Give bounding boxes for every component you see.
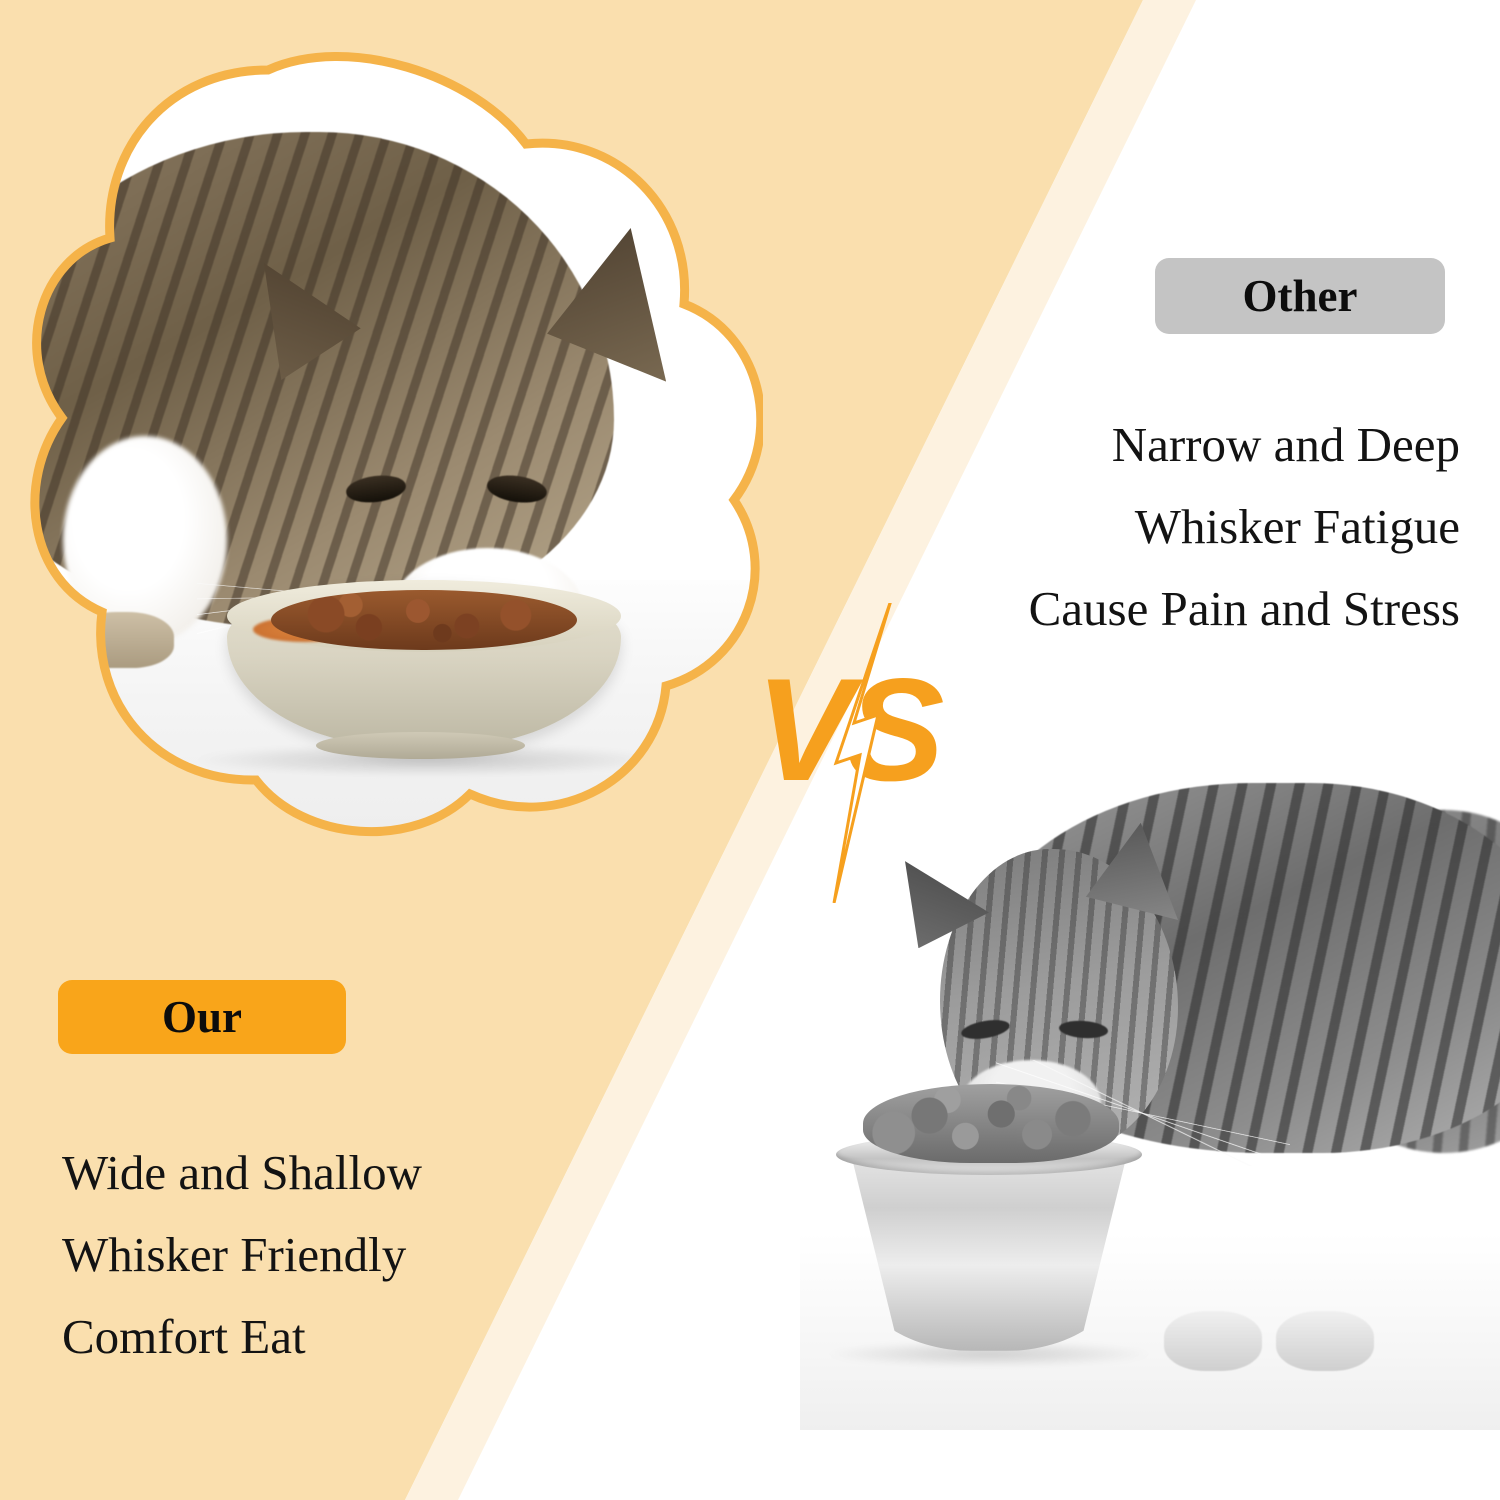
our-badge-label: Our [162, 991, 242, 1043]
other-feature-item: Whisker Fatigue [1029, 486, 1460, 568]
our-badge: Our [58, 980, 346, 1054]
our-feature-list: Wide and Shallow Whisker Friendly Comfor… [62, 1132, 422, 1378]
our-feature-item: Wide and Shallow [62, 1132, 422, 1214]
other-feature-item: Cause Pain and Stress [1029, 568, 1460, 650]
other-badge: Other [1155, 258, 1445, 334]
our-feature-item: Comfort Eat [62, 1296, 422, 1378]
comparison-infographic: Our Wide and Shallow Whisker Friendly Co… [0, 0, 1500, 1500]
other-badge-label: Other [1243, 270, 1358, 322]
other-feature-list: Narrow and Deep Whisker Fatigue Cause Pa… [1029, 404, 1460, 650]
other-feature-item: Narrow and Deep [1029, 404, 1460, 486]
our-feature-item: Whisker Friendly [62, 1214, 422, 1296]
our-photo-flower-frame [18, 52, 763, 852]
flower-frame-icon [18, 52, 763, 852]
other-cat-photo [800, 770, 1500, 1430]
